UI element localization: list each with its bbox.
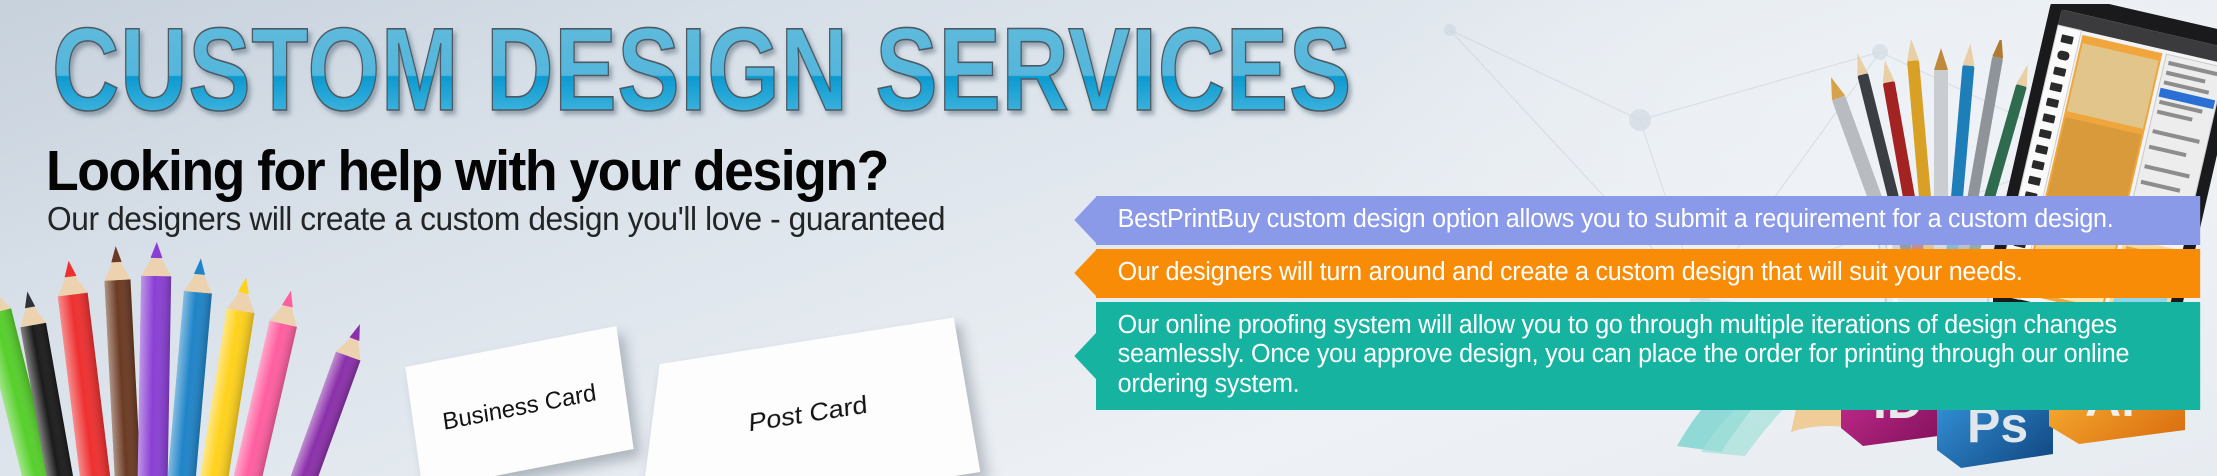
callout-arrow-icon xyxy=(1074,333,1096,379)
pencil xyxy=(138,242,172,476)
callout-text: BestPrintBuy custom design option allows… xyxy=(1118,205,2183,235)
post-card-label: Post Card xyxy=(648,375,968,454)
callout-online-proofing[interactable]: Our online proofing system will allow yo… xyxy=(1096,302,2200,410)
banner-headline: Looking for help with your design? xyxy=(46,138,888,204)
callout-submit-requirement[interactable]: BestPrintBuy custom design option allows… xyxy=(1096,196,2200,245)
callout-arrow-icon xyxy=(1074,197,1096,243)
banner-title: CUSTOM DESIGN SERVICES xyxy=(52,14,1352,132)
callout-arrow-icon xyxy=(1074,250,1096,296)
callout-text: Our online proofing system will allow yo… xyxy=(1118,311,2183,400)
callout-text: Our designers will turn around and creat… xyxy=(1118,258,2183,288)
custom-design-services-banner: CUSTOM DESIGN SERVICES Looking for help … xyxy=(0,0,2217,476)
pencil xyxy=(103,245,142,476)
business-card-mockup: Business Card xyxy=(405,326,633,476)
business-card-label: Business Card xyxy=(412,374,627,443)
colored-pencils-illustration xyxy=(0,226,412,476)
banner-title-text: CUSTOM DESIGN SERVICES xyxy=(52,4,1352,136)
callout-list: BestPrintBuy custom design option allows… xyxy=(1096,196,2217,410)
post-card-mockup: Post Card xyxy=(639,318,981,476)
callout-designers-turnaround[interactable]: Our designers will turn around and creat… xyxy=(1096,249,2200,298)
